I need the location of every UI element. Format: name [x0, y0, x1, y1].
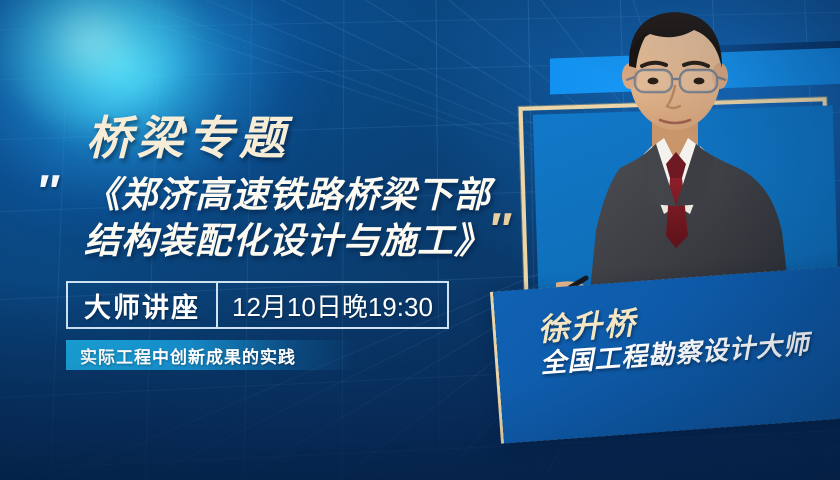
poster-canvas: 徐升桥 全国工程勘察设计大师 桥梁专题 ″ 《郑济高速铁路桥梁下部 结构装配化设… — [0, 0, 840, 480]
subtitle-bar: 实际工程中创新成果的实践 — [66, 340, 356, 370]
lecture-datetime-label: 12月10日晚19:30 — [218, 283, 447, 327]
quote-close-icon: ″ — [488, 206, 508, 252]
lecture-title: 《郑济高速铁路桥梁下部 结构装配化设计与施工》 — [84, 172, 504, 264]
subtitle-label: 实际工程中创新成果的实践 — [66, 343, 296, 368]
lecture-category-label: 大师讲座 — [68, 283, 218, 327]
topic-label: 桥梁专题 — [86, 102, 290, 168]
quote-open-icon: ″ — [36, 168, 56, 214]
lecture-title-line-2: 结构装配化设计与施工》 — [84, 218, 504, 264]
speaker-name-panel: 徐升桥 全国工程勘察设计大师 — [493, 265, 840, 444]
speaker-name-panel-inner: 徐升桥 全国工程勘察设计大师 — [537, 291, 840, 379]
lecture-title-line-1: 《郑济高速铁路桥梁下部 — [84, 172, 504, 218]
date-bar: 大师讲座 12月10日晚19:30 — [66, 281, 449, 329]
